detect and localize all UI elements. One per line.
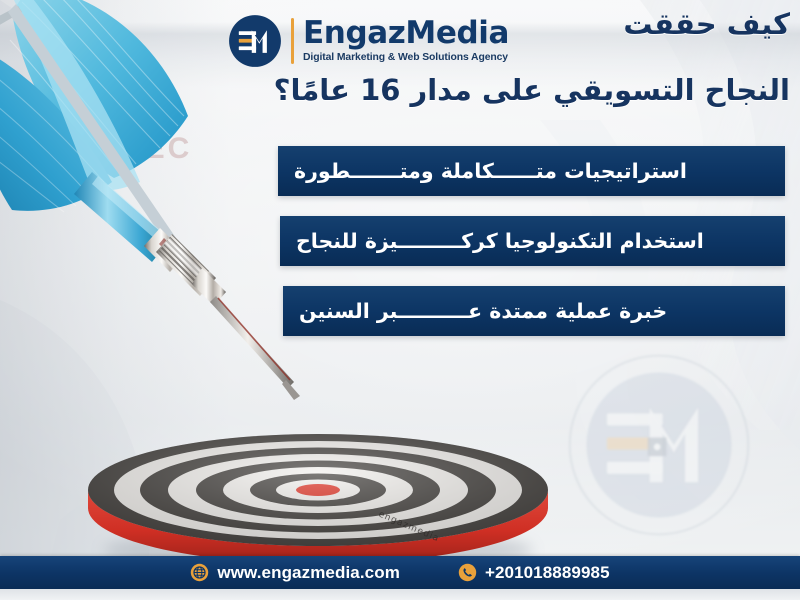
banner-canvas: REC xyxy=(0,0,800,600)
footer-website[interactable]: www.engazmedia.com xyxy=(190,563,400,583)
bullet-bar-2-label: استخدام التكنولوجيا كركـــــــــيزة للنج… xyxy=(296,229,704,253)
footer-phone-label: +201018889985 xyxy=(485,563,610,583)
bullet-bar-3: خبرة عملية ممتدة عــــــــــبر السنين xyxy=(283,286,785,336)
bullet-bar-1: استراتيجيات متــــــكاملة ومتـــــــطورة xyxy=(278,146,785,196)
footer-bottom-strip xyxy=(0,589,800,600)
headline-line-2: النجاح التسويقي على مدار 16 عامًا؟ xyxy=(150,74,790,106)
em-monogram-icon xyxy=(228,14,282,68)
headline-line-1: كيف حققت xyxy=(460,8,790,40)
em-monogram-watermark-icon xyxy=(566,352,752,538)
bullet-bar-1-label: استراتيجيات متــــــكاملة ومتـــــــطورة xyxy=(294,159,687,183)
footer-phone[interactable]: +201018889985 xyxy=(458,563,610,583)
logo-divider xyxy=(291,18,294,64)
footer-website-label: www.engazmedia.com xyxy=(217,563,400,583)
globe-icon xyxy=(190,563,209,582)
logo-tagline: Digital Marketing & Web Solutions Agency xyxy=(303,53,509,63)
phone-icon xyxy=(458,563,477,582)
footer-contact-bar: www.engazmedia.com +201018889985 xyxy=(0,556,800,589)
bullet-bar-2: استخدام التكنولوجيا كركـــــــــيزة للنج… xyxy=(280,216,785,266)
bullet-bar-3-label: خبرة عملية ممتدة عــــــــــبر السنين xyxy=(299,299,667,323)
